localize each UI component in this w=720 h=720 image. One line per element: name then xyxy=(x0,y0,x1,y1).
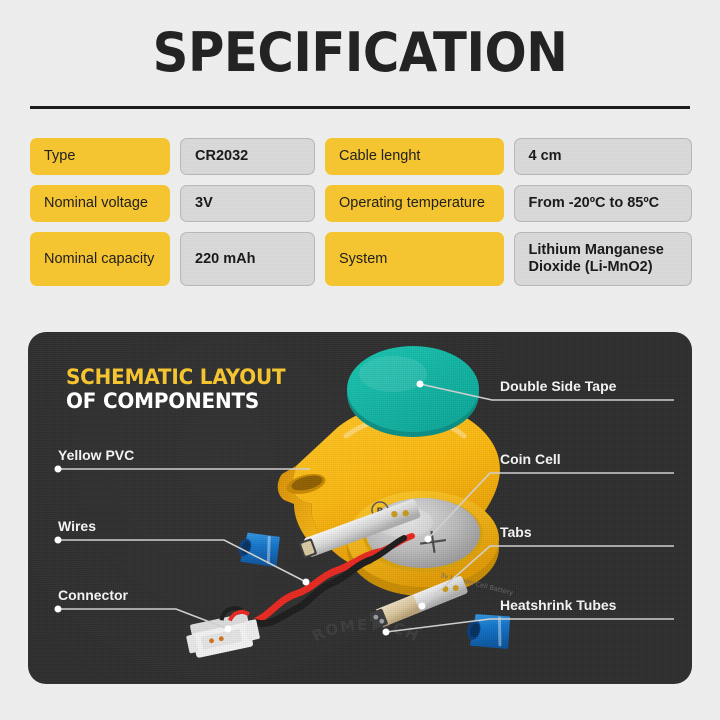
label-coin-cell: Coin Cell xyxy=(500,451,561,467)
title-divider xyxy=(30,106,690,109)
schematic-heading-line2: OF COMPONENTS xyxy=(66,390,285,414)
label-double-side-tape: Double Side Tape xyxy=(500,378,616,394)
spec-label-temp: Operating temperature xyxy=(325,185,504,222)
heatshrink-blue-upper-part xyxy=(235,526,286,573)
schematic-heading-line1: SCHEMATIC LAYOUT xyxy=(66,366,285,390)
page-title-wrap: SPECIFICATION xyxy=(0,26,720,80)
label-heatshrink-tubes: Heatshrink Tubes xyxy=(500,597,616,613)
heatshrink-blue-lower-part xyxy=(464,607,516,655)
spec-value-voltage: 3V xyxy=(180,185,315,222)
spec-label-cable: Cable lenght xyxy=(325,138,504,175)
double-side-tape-part xyxy=(347,346,479,437)
spec-label-system: System xyxy=(325,232,504,286)
label-yellow-pvc: Yellow PVC xyxy=(58,447,134,463)
specification-table: Type CR2032 Cable lenght 4 cm Nominal vo… xyxy=(30,138,692,286)
label-tabs: Tabs xyxy=(500,524,532,540)
label-connector: Connector xyxy=(58,587,128,603)
spec-label-capacity: Nominal capacity xyxy=(30,232,170,286)
spec-value-temp: From -20ºC to 85ºC xyxy=(514,185,693,222)
spec-value-system: Lithium Manganese Dioxide (Li-MnO2) xyxy=(514,232,693,286)
connector-part xyxy=(182,604,261,659)
battery-brand-text: ROMETECH xyxy=(309,616,422,646)
spec-value-cable: 4 cm xyxy=(514,138,693,175)
label-wires: Wires xyxy=(58,518,96,534)
schematic-heading: SCHEMATIC LAYOUT OF COMPONENTS xyxy=(66,366,297,413)
spec-label-type: Type xyxy=(30,138,170,175)
spec-label-voltage: Nominal voltage xyxy=(30,185,170,222)
spec-value-capacity: 220 mAh xyxy=(180,232,315,286)
schematic-panel: ROMETECH R 3v Lithium Cell Battery xyxy=(28,332,692,684)
page-title: SPECIFICATION xyxy=(29,26,691,80)
spec-value-type: CR2032 xyxy=(180,138,315,175)
